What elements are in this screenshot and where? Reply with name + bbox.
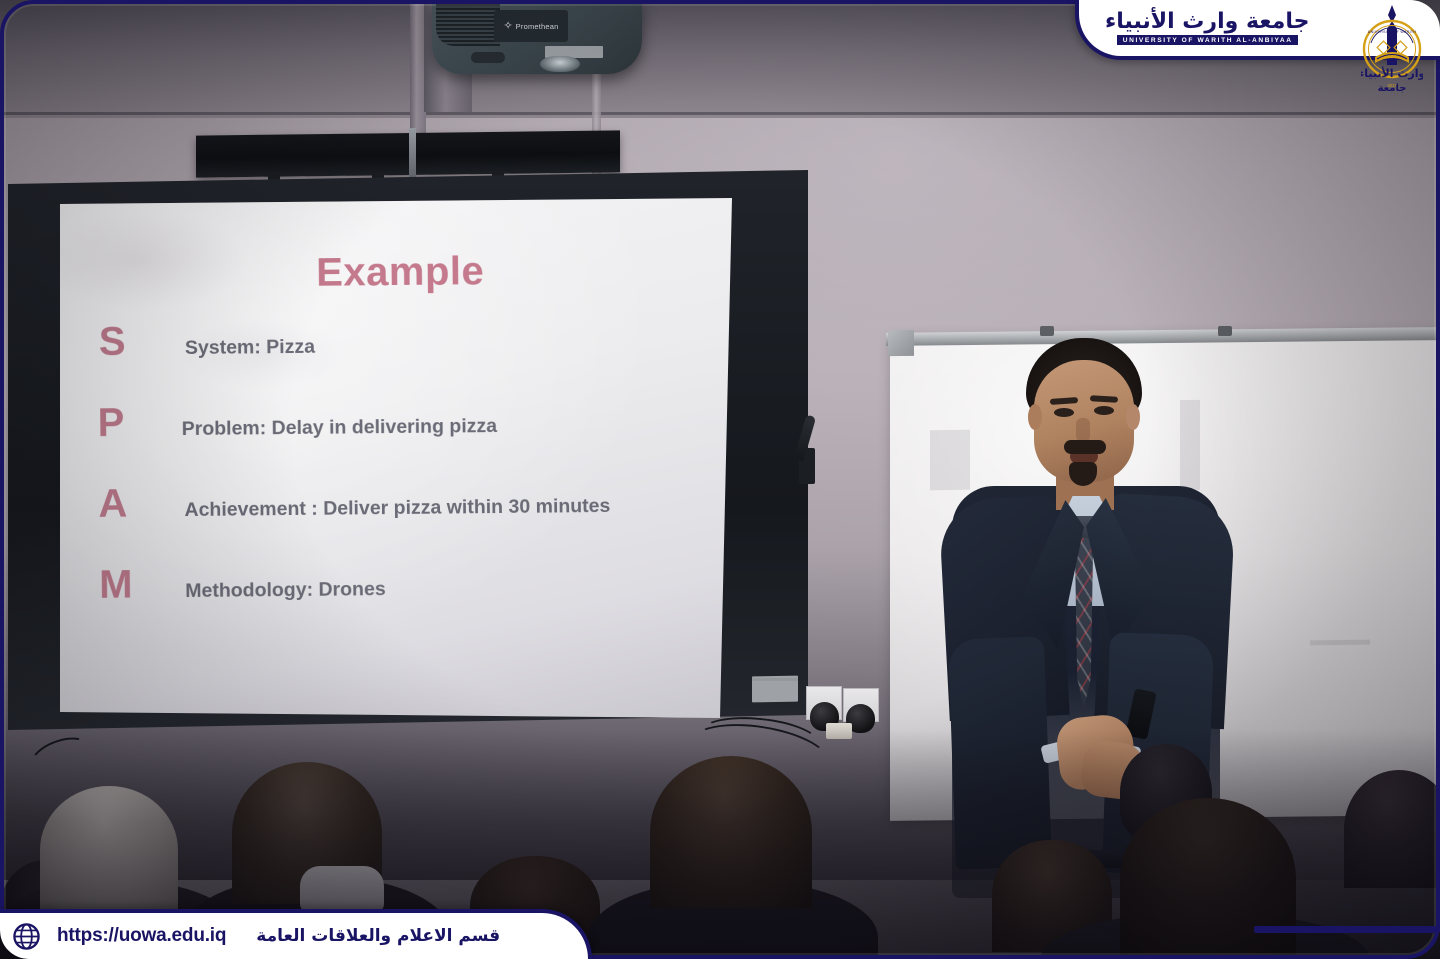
presenter-nose [1076,418,1090,442]
audience-head [1344,770,1440,888]
spam-text-m: Methodology: Drones [185,578,386,603]
projector-foot [471,52,505,63]
footer-brand-panel: https://uowa.edu.iq قسم الاعلام والعلاقا… [0,909,592,959]
promethean-logo-icon: ✧ [503,21,512,32]
presenter-moustache [1064,440,1106,454]
presenter-ear-right [1126,404,1140,430]
spam-letter-a: A [98,481,172,527]
projector-brand-badge: ✧ Promethean [494,10,568,42]
classroom-photo: ✧ Promethean Example S System: Pizza P [0,0,1440,959]
panel-spec-sticker-line [752,678,798,681]
website-url[interactable]: https://uowa.edu.iq [57,925,226,947]
audience-head [1120,798,1296,958]
audience-head [40,786,178,914]
university-wordmark-english: UNIVERSITY OF WARITH AL-ANBIYAA [1117,35,1298,45]
slide-bullet-row: A Achievement : Deliver pizza within 30 … [98,476,706,527]
slide-bullet-row: M Methodology: Drones [99,557,707,608]
presenter-ear-left [1028,404,1042,430]
slide-title: Example [96,247,704,298]
soundbar-center-joint [409,128,416,180]
projector-vent [436,0,500,46]
spam-letter-s: S [97,319,171,365]
classroom-soundbar [196,130,620,177]
projector-lens [540,56,580,72]
department-label-arabic: قسم الاعلام والعلاقات العامة [256,926,500,946]
slide-bullet-row: P Problem: Delay in delivering pizza [97,395,705,446]
projector-brand-label: Promethean [516,22,559,31]
slide-bullet-row: S System: Pizza [97,314,705,365]
presentation-slide: Example S System: Pizza P Problem: Delay… [60,198,732,718]
university-wordmark: جامعة وارث الأنبياء UNIVERSITY OF WARITH… [1105,11,1309,45]
whiteboard-corner-bracket [888,330,914,356]
header-brand-panel: جامعة وارث الأنبياء UNIVERSITY OF WARITH… [1075,0,1440,60]
svg-text:2017: 2017 [1387,83,1397,88]
audience-face-mask [300,866,384,912]
university-seal-emblem: UNIVERSITY OF WARITH وارث الأنبياء جامعة… [1360,2,1424,106]
whiteboard-clip [1040,326,1054,336]
presenter-eye-right [1094,406,1114,415]
projected-slide-surface[interactable]: Example S System: Pizza P Problem: Delay… [60,198,732,718]
spam-text-a: Achievement : Deliver pizza within 30 mi… [184,495,610,522]
svg-text:وارث الأنبياء: وارث الأنبياء [1361,66,1423,80]
presenter-eye-left [1054,408,1074,417]
spam-letter-m: M [99,562,173,608]
spam-text-s: System: Pizza [185,336,315,360]
power-adapter [826,723,852,739]
whiteboard-clip [1218,326,1232,336]
globe-icon [12,922,41,951]
screenshot-canvas: ✧ Promethean Example S System: Pizza P [0,0,1440,959]
university-wordmark-arabic: جامعة وارث الأنبياء [1105,11,1309,33]
ceiling-seam [0,112,1440,115]
whiteboard-smudge [1310,640,1370,646]
audience-head [650,756,812,908]
presenter-arm-left [948,636,1052,869]
spam-text-p: Problem: Delay in delivering pizza [182,415,498,441]
footer-accent-bar [1254,926,1440,933]
svg-text:UNIVERSITY OF WARITH: UNIVERSITY OF WARITH [1368,30,1417,34]
spam-letter-p: P [97,400,171,446]
